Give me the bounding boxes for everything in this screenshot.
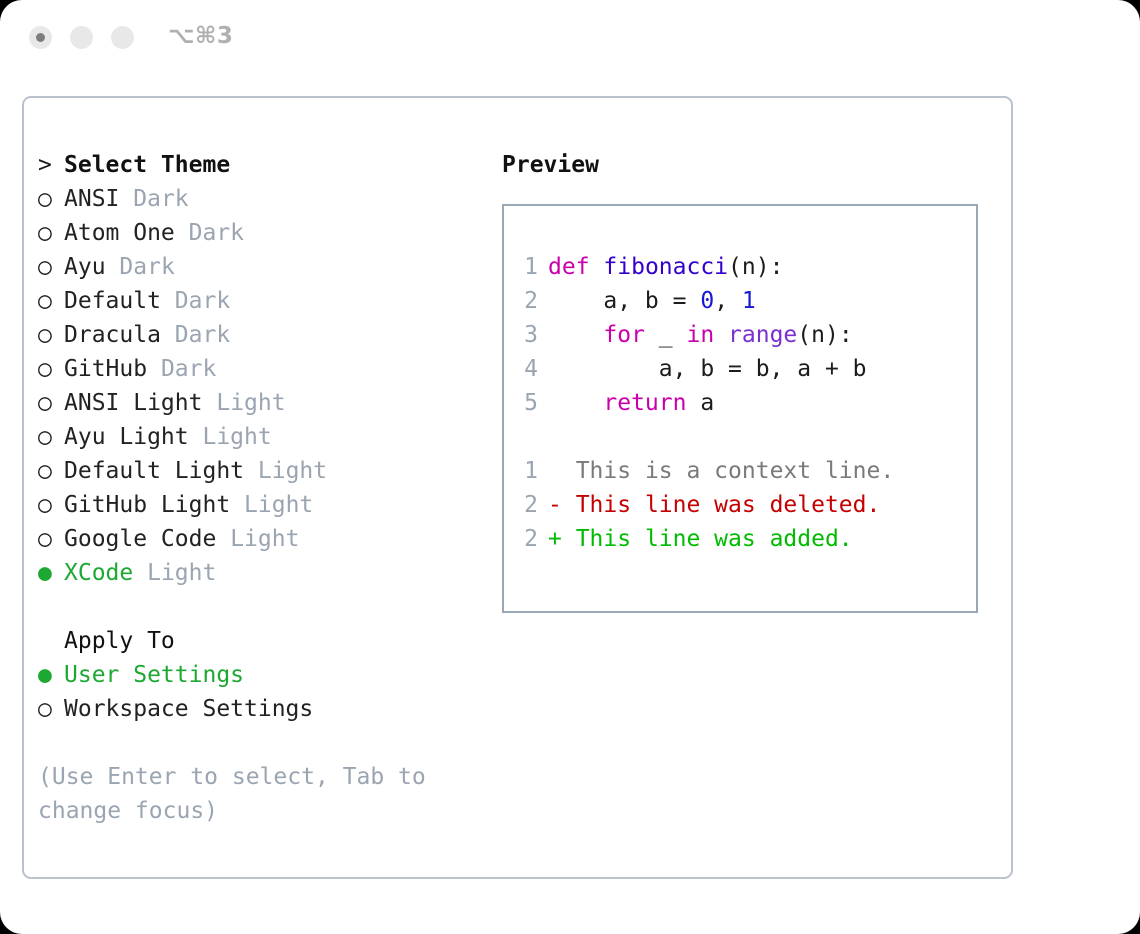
diff-line-del: 2- This line was deleted. bbox=[504, 488, 976, 522]
radio-unselected-icon: ○ bbox=[38, 250, 64, 284]
label-gap bbox=[202, 386, 216, 420]
theme-option-atom-one[interactable]: ○Atom One Dark bbox=[38, 216, 468, 250]
radio-unselected-icon: ○ bbox=[38, 284, 64, 318]
theme-option-label: XCode bbox=[64, 556, 133, 590]
theme-option-variant: Dark bbox=[133, 182, 188, 216]
theme-option-label: ANSI bbox=[64, 182, 119, 216]
code-token-punc: (n): bbox=[728, 254, 783, 280]
diff-text: + This line was added. bbox=[548, 522, 853, 556]
theme-option-variant: Dark bbox=[189, 216, 244, 250]
radio-unselected-icon: ○ bbox=[38, 318, 64, 352]
preview-title: Preview bbox=[502, 148, 1002, 182]
radio-selected-icon: ● bbox=[38, 658, 64, 692]
code-token-kw: return bbox=[603, 390, 686, 416]
apply-to-option-user-settings[interactable]: ●User Settings bbox=[38, 658, 468, 692]
apply-to-option-workspace-settings[interactable]: ○Workspace Settings bbox=[38, 692, 468, 726]
diff-marker: + bbox=[548, 526, 576, 552]
diff-sample: 1 This is a context line.2- This line wa… bbox=[504, 454, 976, 556]
diff-text: This is a context line. bbox=[548, 454, 894, 488]
diff-text: - This line was deleted. bbox=[548, 488, 880, 522]
radio-unselected-icon: ○ bbox=[38, 420, 64, 454]
radio-unselected-icon: ○ bbox=[38, 488, 64, 522]
keyboard-hint-text: (Use Enter to select, Tab to change focu… bbox=[38, 760, 446, 828]
keyboard-shortcut-label: ⌥⌘3 bbox=[168, 23, 233, 49]
theme-list-pane: >Select Theme ○ANSI Dark○Atom One Dark○A… bbox=[38, 148, 468, 828]
label-gap bbox=[106, 250, 120, 284]
label-gap bbox=[133, 556, 147, 590]
code-text: return a bbox=[548, 386, 714, 420]
theme-option-label: ANSI Light bbox=[64, 386, 202, 420]
code-text: for _ in range(n): bbox=[548, 318, 853, 352]
preview-pane: Preview 1def fibonacci(n):2 a, b = 0, 13… bbox=[502, 148, 1002, 613]
line-number: 2 bbox=[504, 284, 548, 318]
code-line: 3 for _ in range(n): bbox=[504, 318, 976, 352]
theme-option-variant: Light bbox=[258, 454, 327, 488]
code-token-punc: a bbox=[686, 390, 714, 416]
apply-to-title: Apply To bbox=[38, 624, 468, 658]
label-gap bbox=[230, 488, 244, 522]
code-token-kw: in bbox=[686, 322, 714, 348]
maximize-button-icon[interactable] bbox=[111, 26, 134, 49]
radio-unselected-icon: ○ bbox=[38, 522, 64, 556]
theme-option-ansi[interactable]: ○ANSI Dark bbox=[38, 182, 468, 216]
theme-option-label: GitHub Light bbox=[64, 488, 230, 522]
label-gap bbox=[216, 522, 230, 556]
diff-line-add: 2+ This line was added. bbox=[504, 522, 976, 556]
theme-option-list: ○ANSI Dark○Atom One Dark○Ayu Dark○Defaul… bbox=[38, 182, 468, 590]
theme-option-ansi-light[interactable]: ○ANSI Light Light bbox=[38, 386, 468, 420]
theme-option-variant: Light bbox=[202, 420, 271, 454]
minimize-button-icon[interactable] bbox=[70, 26, 93, 49]
select-theme-heading-label: Select Theme bbox=[64, 148, 230, 182]
theme-option-ayu[interactable]: ○Ayu Dark bbox=[38, 250, 468, 284]
theme-option-google-code[interactable]: ○Google Code Light bbox=[38, 522, 468, 556]
code-token-kw: for bbox=[603, 322, 645, 348]
diff-marker: - bbox=[548, 492, 576, 518]
code-sample: 1def fibonacci(n):2 a, b = 0, 13 for _ i… bbox=[504, 250, 976, 420]
label-gap bbox=[147, 352, 161, 386]
theme-option-label: Default Light bbox=[64, 454, 244, 488]
theme-option-variant: Light bbox=[230, 522, 299, 556]
radio-unselected-icon: ○ bbox=[38, 216, 64, 250]
code-text: def fibonacci(n): bbox=[548, 250, 783, 284]
app-window: ⌥⌘3 >Select Theme ○ANSI Dark○Atom One Da… bbox=[0, 0, 1140, 934]
line-number: 2 bbox=[504, 488, 548, 522]
label-gap bbox=[161, 318, 175, 352]
close-button-icon[interactable] bbox=[29, 26, 52, 49]
code-token-num: 1 bbox=[742, 288, 756, 314]
theme-option-ayu-light[interactable]: ○Ayu Light Light bbox=[38, 420, 468, 454]
code-token-bi: range bbox=[728, 322, 797, 348]
apply-to-option-list: ●User Settings○Workspace Settings bbox=[38, 658, 468, 726]
theme-option-variant: Dark bbox=[175, 284, 230, 318]
theme-option-variant: Dark bbox=[161, 352, 216, 386]
code-token-punc: , bbox=[714, 288, 742, 314]
theme-option-github-light[interactable]: ○GitHub Light Light bbox=[38, 488, 468, 522]
radio-unselected-icon: ○ bbox=[38, 692, 64, 726]
theme-picker-card: >Select Theme ○ANSI Dark○Atom One Dark○A… bbox=[22, 96, 1013, 879]
diff-marker bbox=[548, 458, 576, 484]
diff-line-text: This line was deleted. bbox=[576, 492, 881, 518]
diff-line-ctx: 1 This is a context line. bbox=[504, 454, 976, 488]
radio-unselected-icon: ○ bbox=[38, 386, 64, 420]
preview-box: 1def fibonacci(n):2 a, b = 0, 13 for _ i… bbox=[502, 204, 978, 613]
apply-to-option-label: User Settings bbox=[64, 658, 244, 692]
theme-option-variant: Light bbox=[216, 386, 285, 420]
line-number: 5 bbox=[504, 386, 548, 420]
label-gap bbox=[189, 420, 203, 454]
theme-option-label: Atom One bbox=[64, 216, 175, 250]
code-token-punc: a, b = b, a + b bbox=[548, 356, 867, 382]
code-token-kw: def bbox=[548, 254, 590, 280]
theme-option-default[interactable]: ○Default Dark bbox=[38, 284, 468, 318]
code-line: 4 a, b = b, a + b bbox=[504, 352, 976, 386]
code-text: a, b = b, a + b bbox=[548, 352, 867, 386]
line-number: 4 bbox=[504, 352, 548, 386]
code-token-punc bbox=[548, 390, 603, 416]
label-gap bbox=[119, 182, 133, 216]
radio-selected-icon: ● bbox=[38, 556, 64, 590]
code-token-punc bbox=[590, 254, 604, 280]
theme-option-variant: Dark bbox=[119, 250, 174, 284]
close-dot-inner bbox=[36, 33, 45, 42]
list-spacer bbox=[38, 590, 468, 624]
theme-option-label: Ayu bbox=[64, 250, 106, 284]
code-token-punc bbox=[548, 322, 603, 348]
code-text: a, b = 0, 1 bbox=[548, 284, 756, 318]
theme-option-label: Default bbox=[64, 284, 161, 318]
code-token-num: 0 bbox=[700, 288, 714, 314]
theme-option-label: GitHub bbox=[64, 352, 147, 386]
theme-option-label: Ayu Light bbox=[64, 420, 189, 454]
theme-option-dracula[interactable]: ○Dracula Dark bbox=[38, 318, 468, 352]
theme-option-variant: Light bbox=[147, 556, 216, 590]
theme-option-variant: Dark bbox=[175, 318, 230, 352]
radio-unselected-icon: ○ bbox=[38, 454, 64, 488]
select-theme-heading: >Select Theme bbox=[38, 148, 468, 182]
theme-option-label: Dracula bbox=[64, 318, 161, 352]
theme-option-default-light[interactable]: ○Default Light Light bbox=[38, 454, 468, 488]
traffic-light-buttons bbox=[29, 26, 134, 49]
code-token-fn: fibonacci bbox=[603, 254, 728, 280]
code-token-punc: a, b = bbox=[548, 288, 700, 314]
theme-option-variant: Light bbox=[244, 488, 313, 522]
prompt-caret-icon: > bbox=[38, 148, 64, 182]
theme-option-xcode[interactable]: ●XCode Light bbox=[38, 556, 468, 590]
code-token-punc: _ bbox=[645, 322, 687, 348]
label-gap bbox=[244, 454, 258, 488]
code-line: 2 a, b = 0, 1 bbox=[504, 284, 976, 318]
label-gap bbox=[161, 284, 175, 318]
code-token-punc bbox=[714, 322, 728, 348]
code-token-punc: (n): bbox=[797, 322, 852, 348]
label-gap bbox=[175, 216, 189, 250]
line-number: 2 bbox=[504, 522, 548, 556]
code-diff-separator bbox=[504, 420, 976, 454]
radio-unselected-icon: ○ bbox=[38, 182, 64, 216]
theme-option-label: Google Code bbox=[64, 522, 216, 556]
code-line: 1def fibonacci(n): bbox=[504, 250, 976, 284]
code-line: 5 return a bbox=[504, 386, 976, 420]
diff-line-text: This is a context line. bbox=[576, 458, 895, 484]
title-bar: ⌥⌘3 bbox=[0, 0, 1140, 76]
theme-option-github[interactable]: ○GitHub Dark bbox=[38, 352, 468, 386]
line-number: 3 bbox=[504, 318, 548, 352]
diff-line-text: This line was added. bbox=[576, 526, 853, 552]
line-number: 1 bbox=[504, 454, 548, 488]
radio-unselected-icon: ○ bbox=[38, 352, 64, 386]
line-number: 1 bbox=[504, 250, 548, 284]
apply-to-option-label: Workspace Settings bbox=[64, 692, 313, 726]
